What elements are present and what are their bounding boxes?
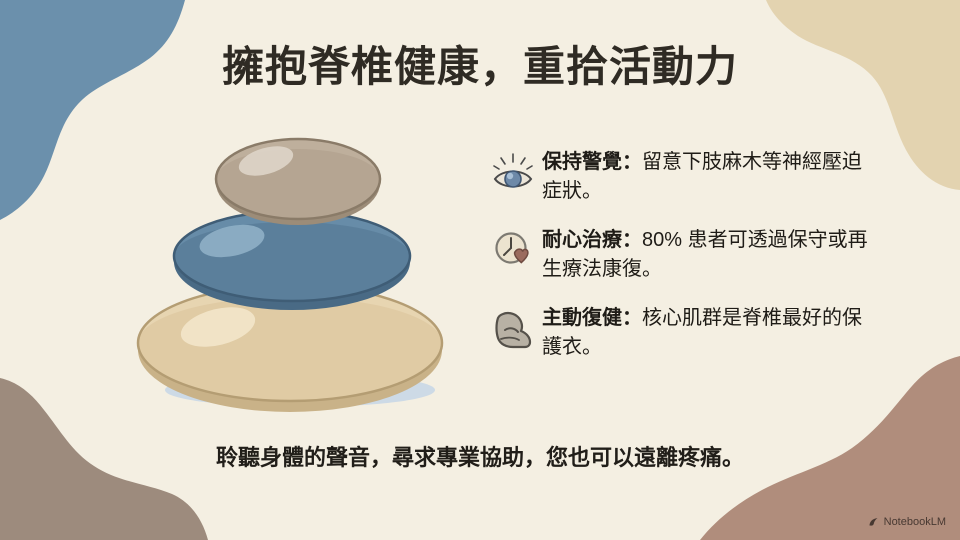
middle-stone <box>174 211 410 310</box>
bullet-text: 耐心治療：80% 患者可透過保守或再生療法康復。 <box>542 226 872 284</box>
slide-canvas: 擁抱脊椎健康，重拾活動力 <box>0 0 960 540</box>
bullet-item-rehab: 主動復健：核心肌群是脊椎最好的保護衣。 <box>492 304 892 362</box>
bullet-list: 保持警覺：留意下肢麻木等神經壓迫症狀。 耐心治療：80% 患者可透過保守或再生療… <box>492 148 892 382</box>
notebooklm-logo-icon <box>868 516 880 528</box>
bullet-item-alertness: 保持警覺：留意下肢麻木等神經壓迫症狀。 <box>492 148 892 206</box>
bullet-label: 保持警覺： <box>542 151 642 173</box>
bullet-item-patience: 耐心治療：80% 患者可透過保守或再生療法康復。 <box>492 226 892 284</box>
bullet-text: 主動復健：核心肌群是脊椎最好的保護衣。 <box>542 304 872 362</box>
footer-text: 聆聽身體的聲音，尋求專業協助，您也可以遠離疼痛。 <box>0 440 960 472</box>
top-stone <box>216 139 380 225</box>
clock-heart-icon <box>492 228 534 272</box>
bullet-text: 保持警覺：留意下肢麻木等神經壓迫症狀。 <box>542 148 872 206</box>
bullet-label: 耐心治療： <box>542 229 642 251</box>
notebooklm-watermark: NotebookLM <box>868 516 946 528</box>
watermark-label: NotebookLM <box>884 516 946 528</box>
bullet-label: 主動復健： <box>542 307 642 329</box>
eye-icon <box>492 150 534 194</box>
flexed-biceps-icon <box>492 306 534 350</box>
page-title: 擁抱脊椎健康，重拾活動力 <box>0 42 960 92</box>
stacked-zen-stones-illustration <box>120 125 470 415</box>
